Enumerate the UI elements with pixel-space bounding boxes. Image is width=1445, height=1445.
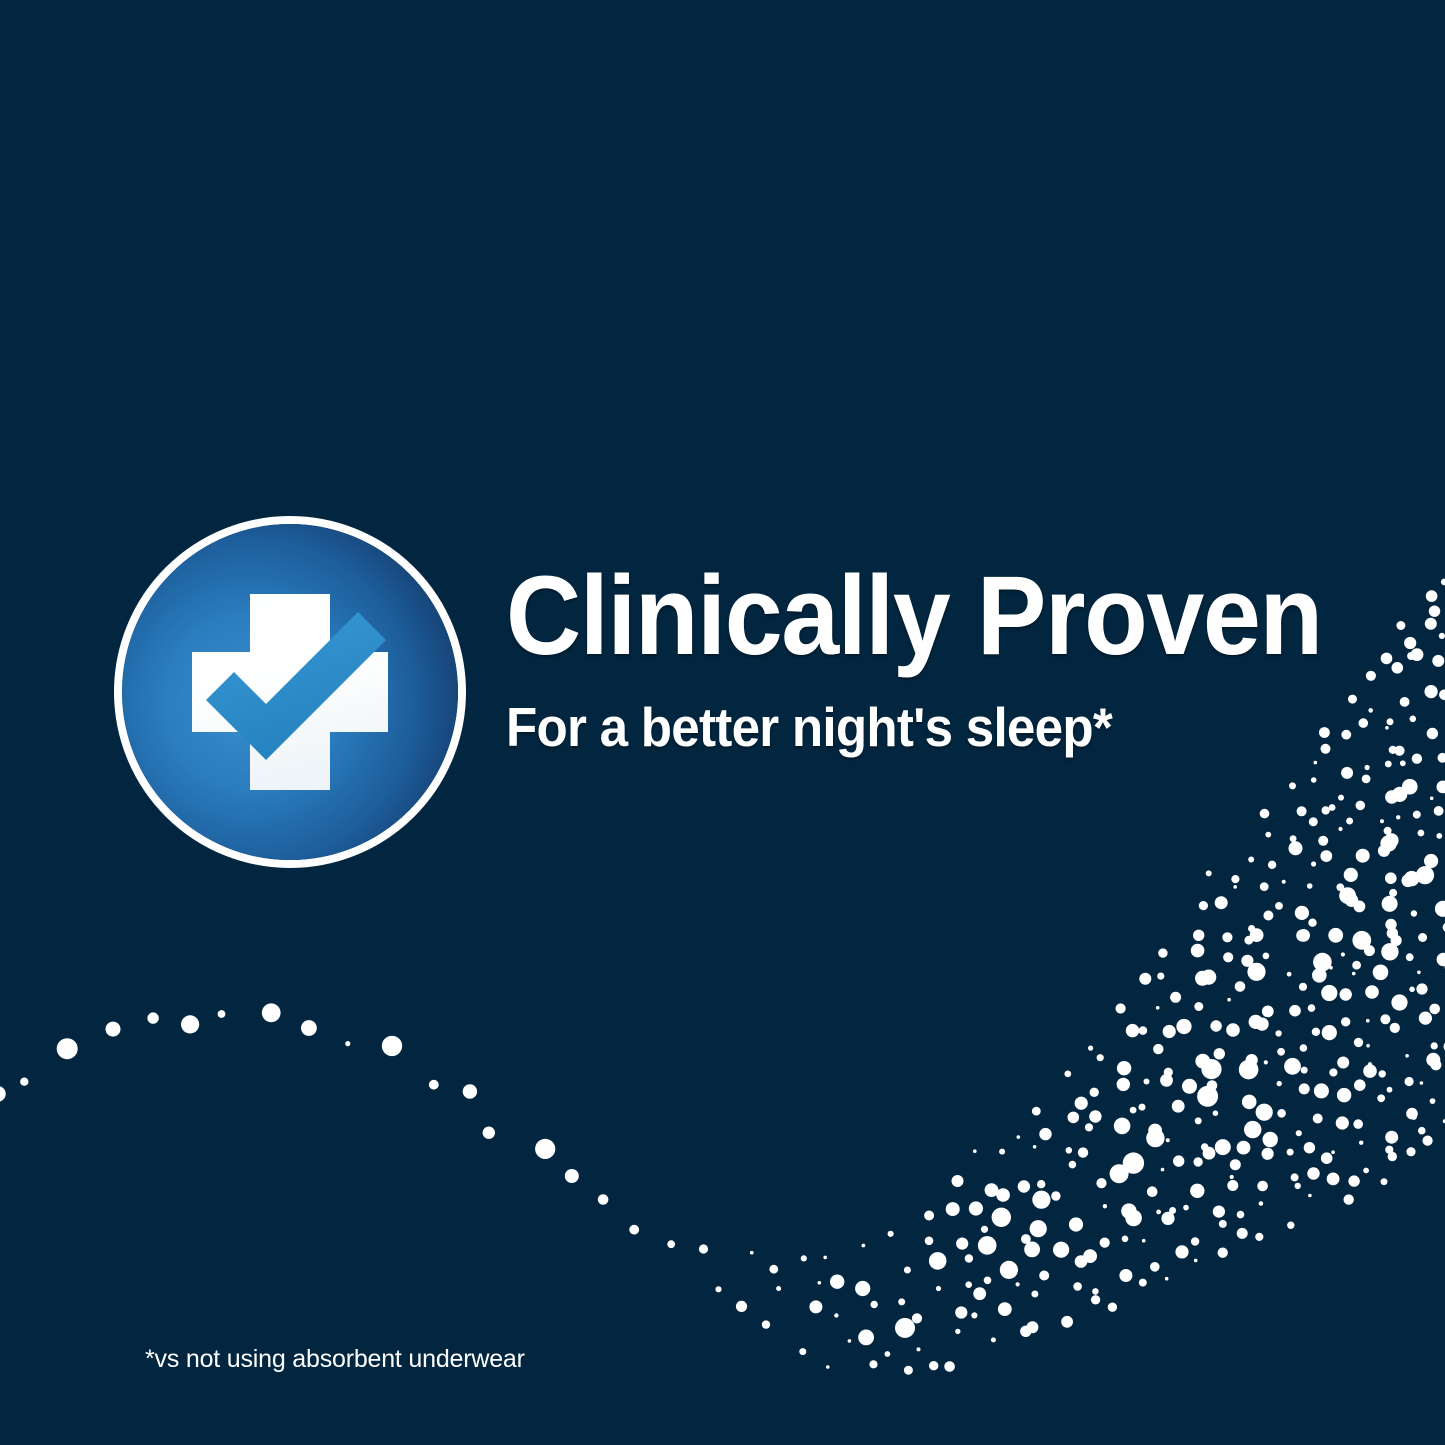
footnote-text: *vs not using absorbent underwear xyxy=(145,1345,525,1374)
page-title: Clinically Proven xyxy=(506,560,1343,672)
page-subtitle: For a better night's sleep* xyxy=(506,700,1343,755)
promo-canvas: Clinically Proven For a better night's s… xyxy=(0,0,1445,1445)
clinically-proven-badge xyxy=(110,512,470,872)
headline-block: Clinically Proven For a better night's s… xyxy=(506,560,1406,755)
